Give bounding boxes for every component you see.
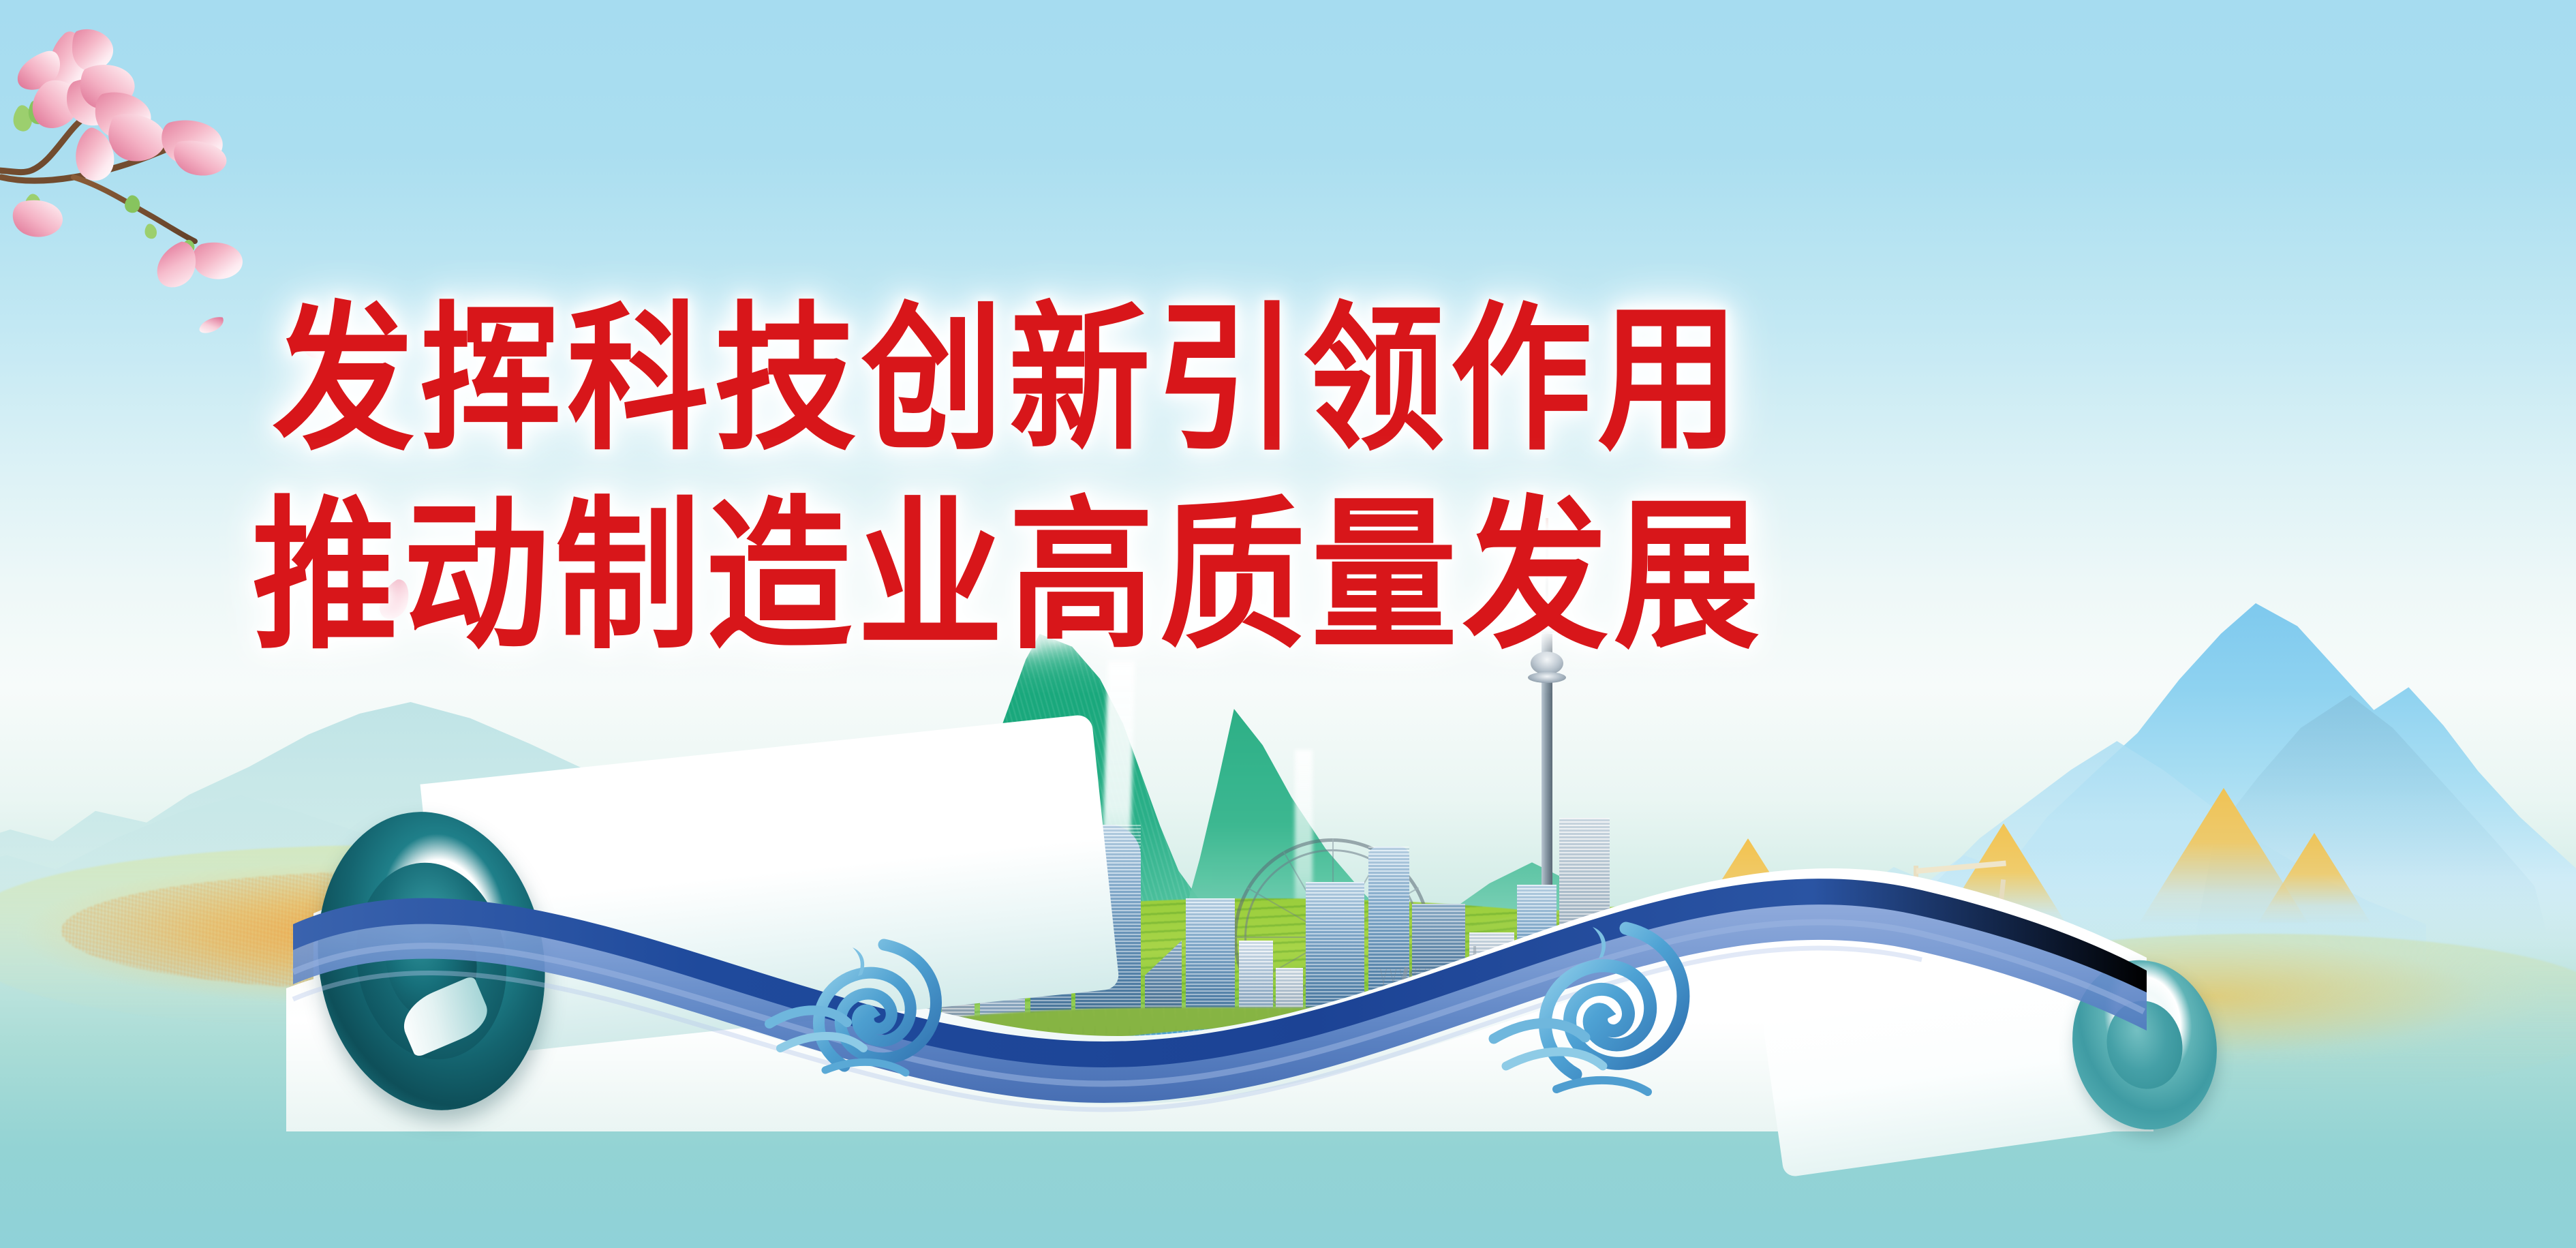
wave-swirl-left-icon — [760, 934, 964, 1084]
title-line-1: 发挥科技创新引领作用 — [0, 273, 2017, 489]
wave-swirl-right-icon — [1486, 919, 1711, 1096]
magnolia-branch — [0, 7, 307, 293]
poster-banner: 发挥科技创新引领作用 推动制造业高质量发展 — [0, 0, 2576, 1248]
paper-scroll-roll-left — [297, 795, 566, 1127]
poster-title: 发挥科技创新引领作用 推动制造业高质量发展 — [0, 273, 2017, 664]
title-line-2: 推动制造业高质量发展 — [0, 466, 2017, 688]
ship-crane-boom — [1916, 861, 2006, 874]
